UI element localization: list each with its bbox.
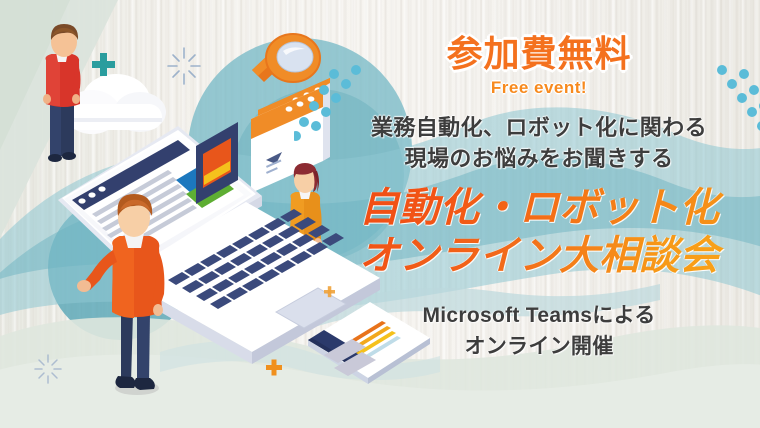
- main-title: 自動化・ロボット化 オンライン大相談会: [318, 184, 760, 280]
- free-event-badge: 参加費無料 Free event!: [318, 34, 760, 112]
- footer-text: Microsoft Teamsによる オンライン開催: [318, 300, 760, 362]
- sparkle-icon: [168, 48, 200, 84]
- plus-icon-orange: [266, 360, 282, 376]
- main-title-line-2: オンライン大相談会: [318, 232, 760, 280]
- badge-headline: 参加費無料: [318, 34, 760, 74]
- footer-line-1: Microsoft Teamsによる: [318, 300, 760, 331]
- text-content-column: 参加費無料 Free event! 業務自動化、ロボット化に関わる 現場のお悩み…: [318, 0, 760, 428]
- subheading: 業務自動化、ロボット化に関わる 現場のお悩みをお聞きする: [318, 112, 760, 174]
- subheading-line-1: 業務自動化、ロボット化に関わる: [318, 112, 760, 143]
- person-red-sweater: [43, 24, 81, 162]
- footer-line-2: オンライン開催: [318, 331, 760, 362]
- badge-subline: Free event!: [318, 78, 760, 98]
- subheading-line-2: 現場のお悩みをお聞きする: [318, 143, 760, 174]
- event-banner: 参加費無料 Free event! 業務自動化、ロボット化に関わる 現場のお悩み…: [0, 0, 760, 428]
- main-title-line-1: 自動化・ロボット化: [318, 184, 760, 232]
- plus-icon-teal: [92, 53, 115, 76]
- sparkle-icon-small: [35, 355, 61, 383]
